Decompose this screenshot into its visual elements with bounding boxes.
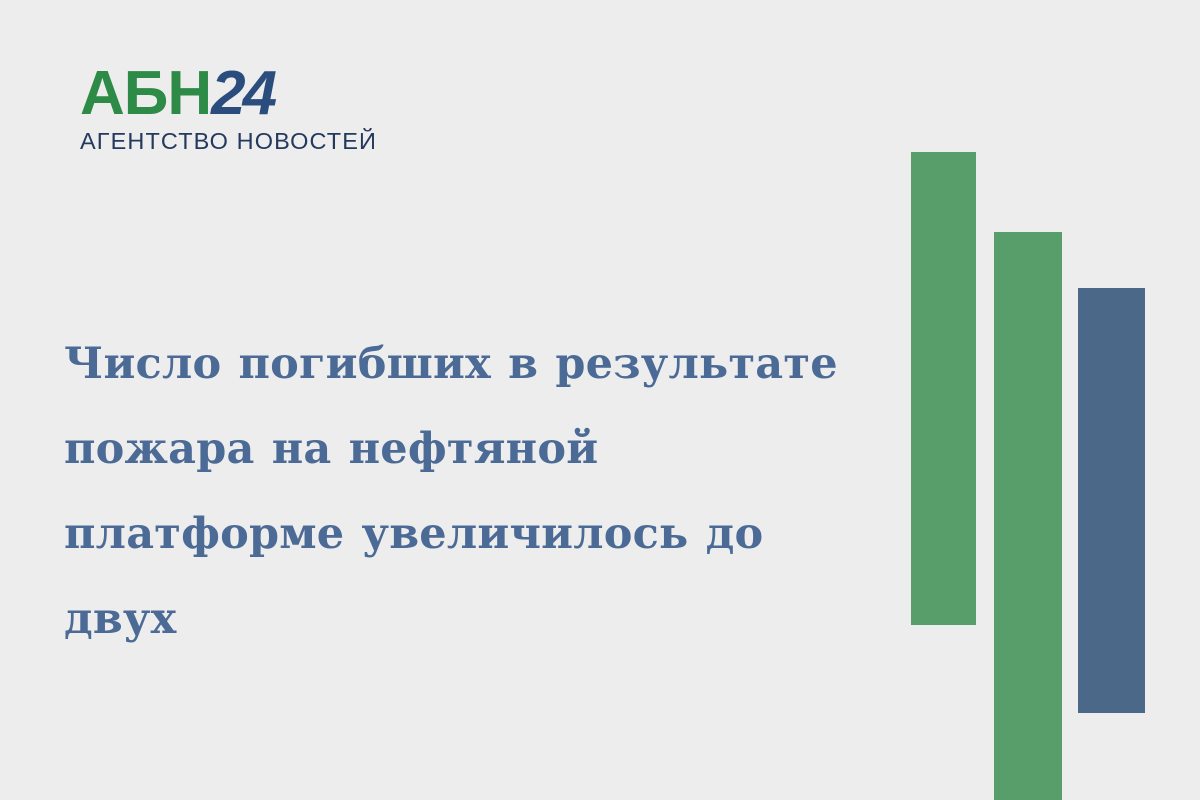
headline: Число погибших в результате пожара на не… — [64, 322, 864, 662]
decorative-bar-blue — [1078, 288, 1145, 713]
logo-tagline: АГЕНТСТВО НОВОСТЕЙ — [80, 128, 380, 154]
logo-abn-text: АБН — [80, 59, 211, 128]
decorative-bar-green-tall — [911, 152, 976, 625]
logo-24-text: 24 — [211, 59, 274, 128]
logo-wordmark: АБН24 — [80, 62, 380, 126]
decorative-bar-green-long — [994, 232, 1062, 800]
logo[interactable]: АБН24 АГЕНТСТВО НОВОСТЕЙ — [80, 62, 380, 154]
news-card: АБН24 АГЕНТСТВО НОВОСТЕЙ Число погибших … — [0, 0, 1200, 800]
